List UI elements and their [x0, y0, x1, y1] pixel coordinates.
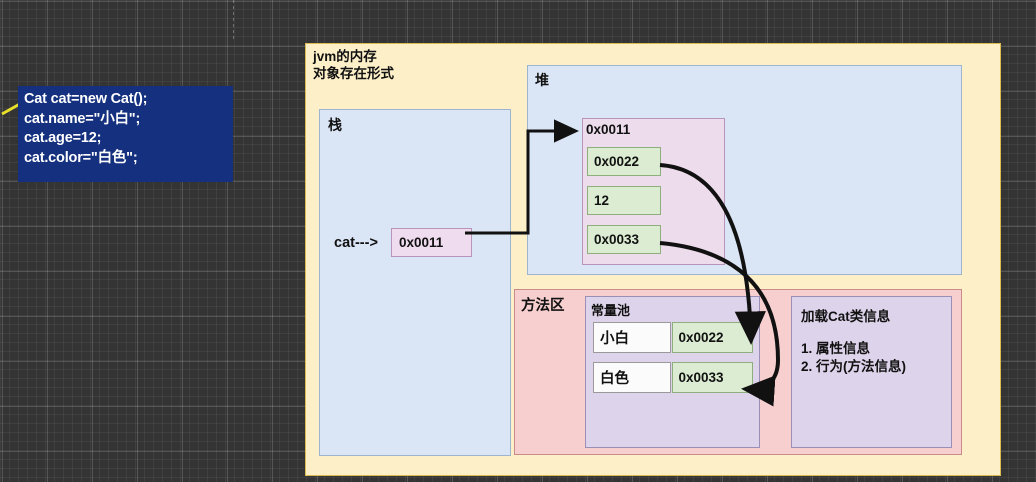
constant-pool-row: 小白 0x0022: [593, 322, 753, 353]
stack-reference-cell: 0x0011: [391, 228, 472, 257]
vertical-guide-line: [233, 0, 234, 40]
stack-title: 栈: [328, 115, 342, 135]
constant-pool-row: 白色 0x0033: [593, 362, 753, 393]
constant-pool-key: 小白: [593, 322, 671, 353]
method-area-region: 方法区 常量池 小白 0x0022 白色 0x0033 加载Cat类信息 1. …: [514, 289, 962, 455]
java-code-snippet: Cat cat=new Cat(); cat.name="小白"; cat.ag…: [18, 86, 233, 182]
class-info-block: 加载Cat类信息 1. 属性信息 2. 行为(方法信息): [791, 296, 952, 448]
class-info-title: 加载Cat类信息: [801, 305, 951, 325]
object-field-name: 0x0022: [587, 147, 661, 176]
heap-title: 堆: [535, 70, 549, 90]
object-address-label: 0x0011: [586, 122, 630, 137]
heap-region: 堆 0x0011 0x0022 12 0x0033: [527, 65, 962, 275]
constant-pool-block: 常量池 小白 0x0022 白色 0x0033: [585, 296, 760, 448]
jvm-panel-title: jvm的内存 对象存在形式: [313, 48, 394, 82]
constant-pool-address: 0x0022: [672, 322, 753, 353]
stack-variable-label: cat--->: [334, 235, 378, 251]
constant-pool-title: 常量池: [591, 300, 630, 319]
method-area-title: 方法区: [521, 294, 565, 315]
heap-object-block: 0x0011 0x0022 12 0x0033: [582, 118, 725, 265]
object-field-color: 0x0033: [587, 225, 661, 254]
stack-region: 栈 cat---> 0x0011: [319, 109, 511, 456]
constant-pool-key: 白色: [593, 362, 671, 393]
class-info-items: 1. 属性信息 2. 行为(方法信息): [801, 340, 951, 376]
jvm-memory-panel: jvm的内存 对象存在形式 栈 cat---> 0x0011 堆 0x0011 …: [305, 43, 1001, 476]
object-field-age: 12: [587, 186, 661, 215]
constant-pool-address: 0x0033: [672, 362, 753, 393]
